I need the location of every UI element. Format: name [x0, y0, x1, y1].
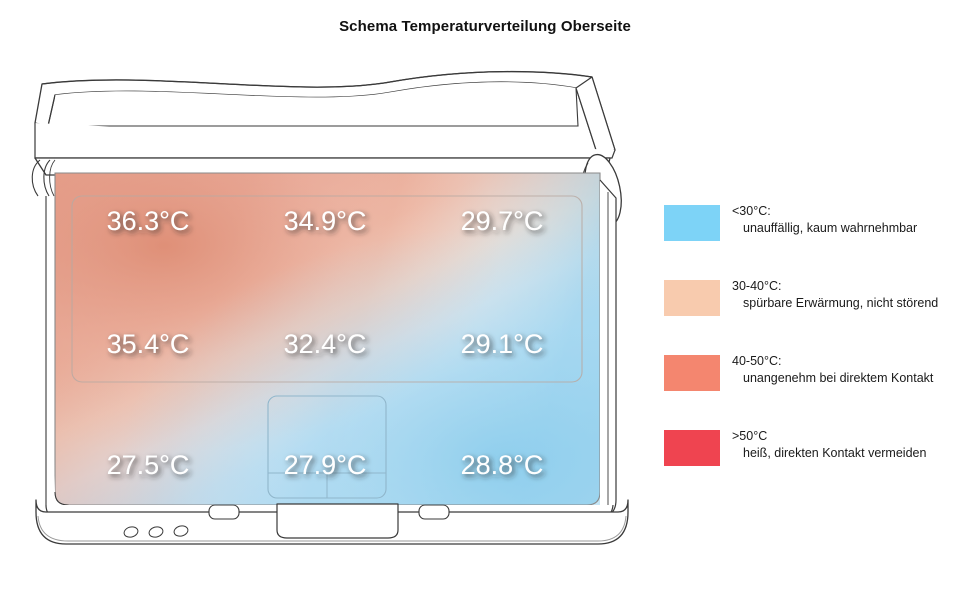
legend-item: <30°C: unauffällig, kaum wahrnehmbar: [664, 205, 964, 280]
legend-range-label: 30-40°C:: [732, 278, 964, 295]
legend-item: >50°C heiß, direkten Kontakt vermeiden: [664, 430, 964, 505]
temp-label: 27.9°C: [284, 450, 367, 480]
temp-label: 35.4°C: [107, 329, 190, 359]
latch-tab-left: [209, 505, 239, 519]
legend-swatch-over-50: [664, 430, 720, 466]
latch-tab-right: [419, 505, 449, 519]
legend-text: 30-40°C: spürbare Erwärmung, nicht störe…: [732, 278, 964, 312]
legend-swatch-40-50: [664, 355, 720, 391]
temp-label: 28.8°C: [461, 450, 544, 480]
temp-label: 34.9°C: [284, 206, 367, 236]
hinge-left-cap-outer: [32, 160, 40, 196]
legend-text: 40-50°C: unangenehm bei direktem Kontakt: [732, 353, 964, 387]
legend-swatch-30-40: [664, 280, 720, 316]
legend-item: 40-50°C: unangenehm bei direktem Kontakt: [664, 355, 964, 430]
laptop-lid: [35, 72, 615, 158]
legend-range-label: >50°C: [732, 428, 964, 445]
legend-description: heiß, direkten Kontakt vermeiden: [732, 445, 964, 462]
temp-label: 27.5°C: [107, 450, 190, 480]
legend-description: unangenehm bei direktem Kontakt: [732, 370, 964, 387]
temp-label: 36.3°C: [107, 206, 190, 236]
legend-range-label: <30°C:: [732, 203, 964, 220]
temp-label: 29.1°C: [461, 329, 544, 359]
laptop-front-edge: [36, 500, 628, 544]
legend-text: >50°C heiß, direkten Kontakt vermeiden: [732, 428, 964, 462]
temperature-legend: <30°C: unauffällig, kaum wahrnehmbar 30-…: [664, 205, 964, 505]
lid-right-hinge-arm: [576, 77, 615, 156]
front-center-release-button: [277, 504, 398, 538]
laptop-thermal-figure: 36.3°C 34.9°C 29.7°C 35.4°C 32.4°C 29.1°…: [0, 0, 660, 600]
legend-description: spürbare Erwärmung, nicht störend: [732, 295, 964, 312]
legend-description: unauffällig, kaum wahrnehmbar: [732, 220, 964, 237]
temp-label: 29.7°C: [461, 206, 544, 236]
legend-swatch-under-30: [664, 205, 720, 241]
legend-text: <30°C: unauffällig, kaum wahrnehmbar: [732, 203, 964, 237]
temp-label: 32.4°C: [284, 329, 367, 359]
legend-item: 30-40°C: spürbare Erwärmung, nicht störe…: [664, 280, 964, 355]
legend-range-label: 40-50°C:: [732, 353, 964, 370]
